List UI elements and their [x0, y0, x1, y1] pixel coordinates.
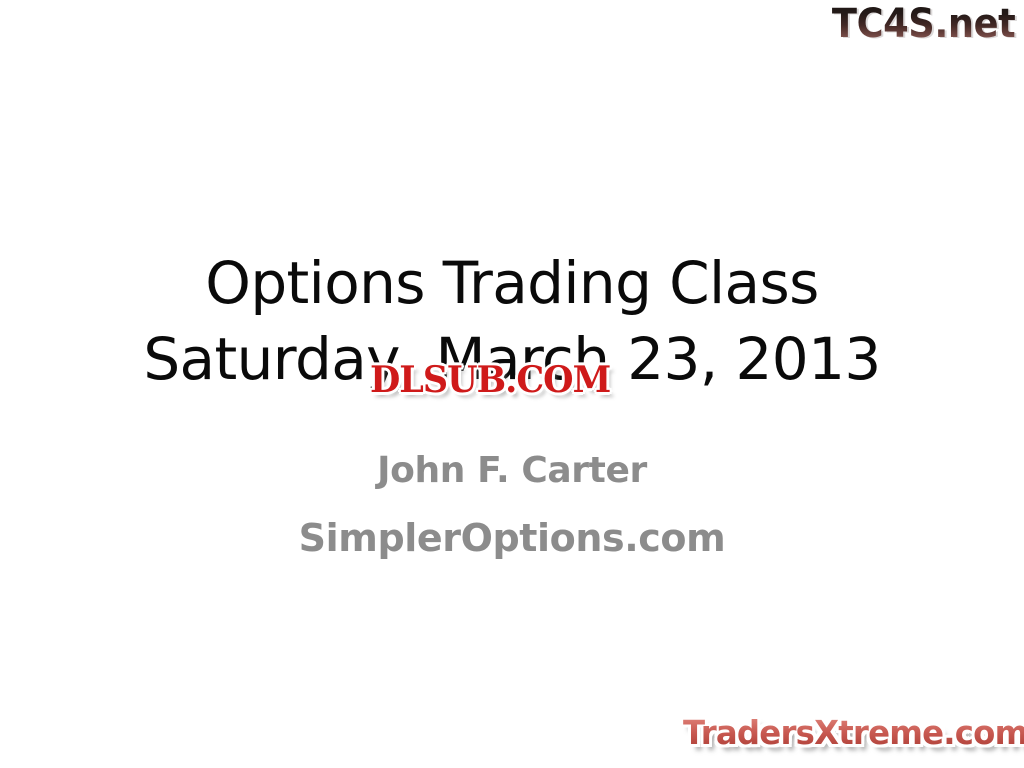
watermark-dlsub: DLSUB.COM	[370, 360, 610, 400]
presenter-website: SimplerOptions.com	[0, 502, 1024, 574]
title-line-1: Options Trading Class	[0, 245, 1024, 321]
brand-tc4s-text: TC4S.net	[832, 2, 1015, 46]
subtitle-block: John F. Carter SimplerOptions.com	[0, 440, 1024, 574]
presentation-slide: TC4S.net TC4S.net Options Trading Class …	[0, 0, 1024, 768]
presenter-name: John F. Carter	[0, 440, 1024, 502]
brand-tradersxtreme-text: TradersXtreme.com	[683, 712, 1024, 754]
